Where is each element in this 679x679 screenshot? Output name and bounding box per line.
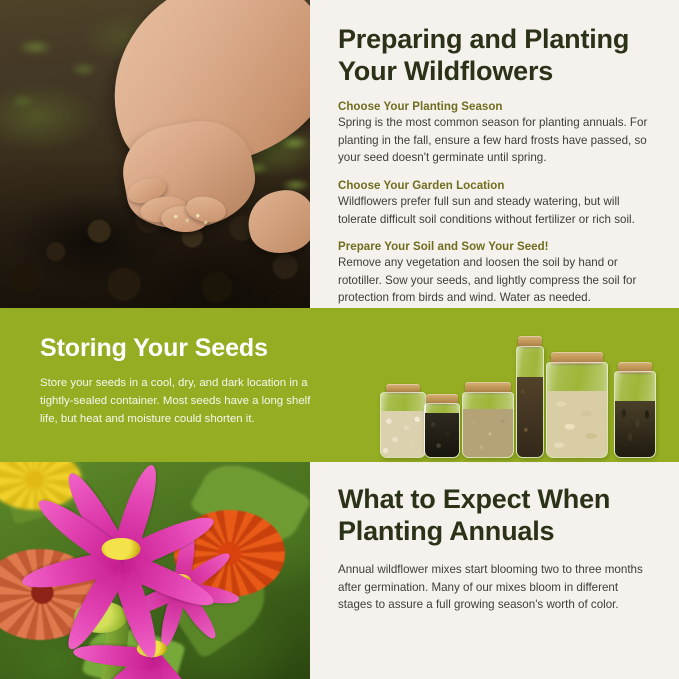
- seed-fill: [547, 391, 607, 457]
- flower-center: [101, 538, 140, 560]
- seed-fill: [463, 409, 513, 457]
- jar-black-seeds: [424, 394, 460, 458]
- body-planting-season: Spring is the most common season for pla…: [338, 114, 657, 167]
- jar-sunflower-striped-seeds: [614, 362, 656, 458]
- section-preparing-and-planting: Preparing and Planting Your Wildflowers …: [0, 0, 679, 308]
- jar-flat-pale-seeds: [546, 352, 608, 458]
- text-panel-what-to-expect: What to Expect When Planting Annuals Ann…: [310, 462, 679, 679]
- seeds-in-hand: [167, 209, 210, 227]
- body-what-to-expect: Annual wildflower mixes start blooming t…: [338, 561, 653, 614]
- section-what-to-expect: What to Expect When Planting Annuals Ann…: [0, 462, 679, 679]
- glass-body: [380, 392, 426, 458]
- jar-fine-beige-seeds: [462, 382, 514, 458]
- glass-body: [614, 371, 656, 458]
- seed-jars-group: [374, 318, 673, 458]
- seed-fill: [615, 401, 655, 457]
- glass-body: [462, 392, 514, 458]
- heading-storing-your-seeds: Storing Your Seeds: [40, 334, 330, 363]
- glass-body: [516, 346, 544, 458]
- body-storing-your-seeds: Store your seeds in a cool, dry, and dar…: [40, 375, 330, 428]
- jar-white-bean-seeds: [380, 384, 426, 458]
- jar-tall-vial-brown-seeds: [516, 336, 544, 458]
- flower-background-image: [0, 462, 310, 679]
- section-storing-your-seeds: Storing Your Seeds Store your seeds in a…: [0, 308, 679, 462]
- soil-background-image: [0, 0, 310, 308]
- pink-cosmos-flower-main: [6, 484, 235, 614]
- text-panel-preparing: Preparing and Planting Your Wildflowers …: [310, 0, 679, 308]
- body-garden-location: Wildflowers prefer full sun and steady w…: [338, 193, 657, 228]
- heading-preparing-and-planting: Preparing and Planting Your Wildflowers: [338, 24, 657, 87]
- text-panel-storing: Storing Your Seeds Store your seeds in a…: [0, 308, 360, 462]
- glass-body: [546, 362, 608, 458]
- photo-seed-jars: [360, 308, 679, 462]
- seed-fill: [425, 413, 459, 457]
- glass-body: [424, 403, 460, 458]
- subhead-garden-location: Choose Your Garden Location: [338, 180, 657, 192]
- photo-flowers: [0, 462, 310, 679]
- infographic-page: Preparing and Planting Your Wildflowers …: [0, 0, 679, 679]
- body-prepare-soil: Remove any vegetation and loosen the soi…: [338, 254, 657, 307]
- seed-fill: [381, 411, 425, 457]
- subhead-planting-season: Choose Your Planting Season: [338, 101, 657, 113]
- heading-what-to-expect: What to Expect When Planting Annuals: [338, 484, 653, 547]
- seed-fill: [517, 377, 543, 457]
- photo-hand-sowing-seeds: [0, 0, 310, 308]
- subhead-prepare-soil: Prepare Your Soil and Sow Your Seed!: [338, 241, 657, 253]
